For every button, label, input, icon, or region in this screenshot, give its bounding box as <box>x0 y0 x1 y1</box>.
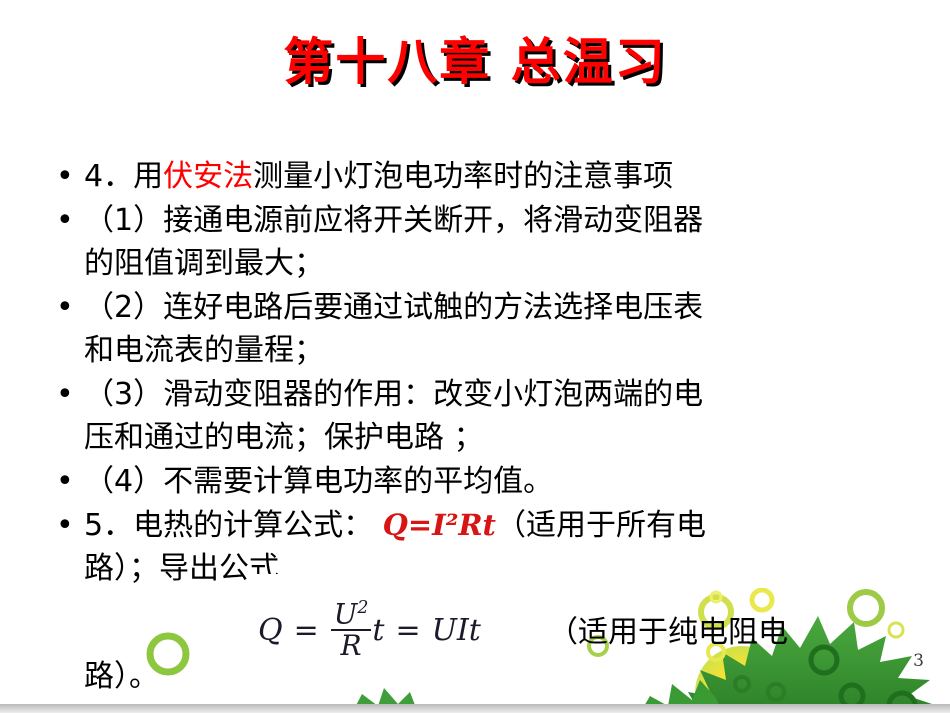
bullet-line: （2）连好电路后要通过试触的方法选择电压表 <box>84 290 703 325</box>
bullet-line: 和电流表的量程； <box>84 333 324 368</box>
bullet-item: •（3）滑动变阻器的作用：改变小灯泡两端的电压和通过的电流；保护电路 ； <box>42 373 922 459</box>
heat-formula: Q = U2 R t = UIt <box>258 600 481 660</box>
formula-equals-2: = <box>395 613 420 648</box>
bullet-marker-icon: • <box>56 286 74 329</box>
bullet-line: （4）不需要计算电功率的平均值。 <box>84 464 553 499</box>
bullet-line: （3）滑动变阻器的作用：改变小灯泡两端的电 <box>84 377 703 412</box>
text-run: （2）连好电路后要通过试触的方法选择电压表 <box>84 290 703 325</box>
text-run: 4．用 <box>84 159 163 194</box>
bullet-marker-icon: • <box>56 155 74 198</box>
text-run: 的阻值调到最大； <box>84 246 324 281</box>
bullet-line: 5．电热的计算公式： Q=I²Rt（适用于所有电 <box>84 508 706 543</box>
formula-denominator: R <box>338 631 365 660</box>
formula-equals-1: = <box>294 613 319 648</box>
text-run: （适用于所有电 <box>496 508 706 543</box>
bottom-bar <box>0 704 950 713</box>
slide-canvas: 第十八章 总温习 •4．用伏安法测量小灯泡电功率时的注意事项•（1）接通电源前应… <box>0 0 950 713</box>
bullet-marker-icon: • <box>56 460 74 503</box>
bullet-line: 压和通过的电流；保护电路 ； <box>84 420 484 455</box>
text-run: 5．电热的计算公式： <box>84 508 383 543</box>
bullet-marker-icon: • <box>56 504 74 547</box>
text-run: 测量小灯泡电功率时的注意事项 <box>253 159 673 194</box>
bullet-marker-icon: • <box>56 373 74 416</box>
bullet-line: （1）接通电源前应将开关断开，将滑动变阻器 <box>84 203 703 238</box>
bullet-item: •4．用伏安法测量小灯泡电功率时的注意事项 <box>42 155 922 198</box>
bullet-line: 的阻值调到最大； <box>84 246 324 281</box>
slide-body: •4．用伏安法测量小灯泡电功率时的注意事项•（1）接通电源前应将开关断开，将滑动… <box>42 155 922 591</box>
formula-time-factor: t <box>372 613 384 648</box>
text-run: （1）接通电源前应将开关断开，将滑动变阻器 <box>84 203 703 238</box>
text-run: 压和通过的电流；保护电路 ； <box>84 420 484 455</box>
formula-fraction: U2 R <box>331 600 372 660</box>
bullet-marker-icon: • <box>56 199 74 242</box>
slide-number: 3 <box>913 651 924 671</box>
text-run: 和电流表的量程； <box>84 333 324 368</box>
text-run: （3）滑动变阻器的作用：改变小灯泡两端的电 <box>84 377 703 412</box>
formula-tail-text: （适用于纯电阻电 <box>548 611 788 654</box>
formula-last-text: 路）。 <box>84 655 159 698</box>
text-run: Q=I²Rt <box>383 508 496 542</box>
slide-title: 第十八章 总温习 <box>0 22 950 94</box>
bullet-item: •（4）不需要计算电功率的平均值。 <box>42 460 922 503</box>
bullet-item: •（2）连好电路后要通过试触的方法选择电压表和电流表的量程； <box>42 286 922 372</box>
text-run: （4）不需要计算电功率的平均值。 <box>84 464 553 499</box>
formula-rhs: UIt <box>432 613 481 648</box>
formula-numerator: U2 <box>331 600 372 629</box>
formula-lhs: Q <box>258 613 283 648</box>
bullet-item: •（1）接通电源前应将开关断开，将滑动变阻器的阻值调到最大； <box>42 199 922 285</box>
text-run: 伏安法 <box>163 159 253 194</box>
bullet-line: 4．用伏安法测量小灯泡电功率时的注意事项 <box>84 159 673 194</box>
